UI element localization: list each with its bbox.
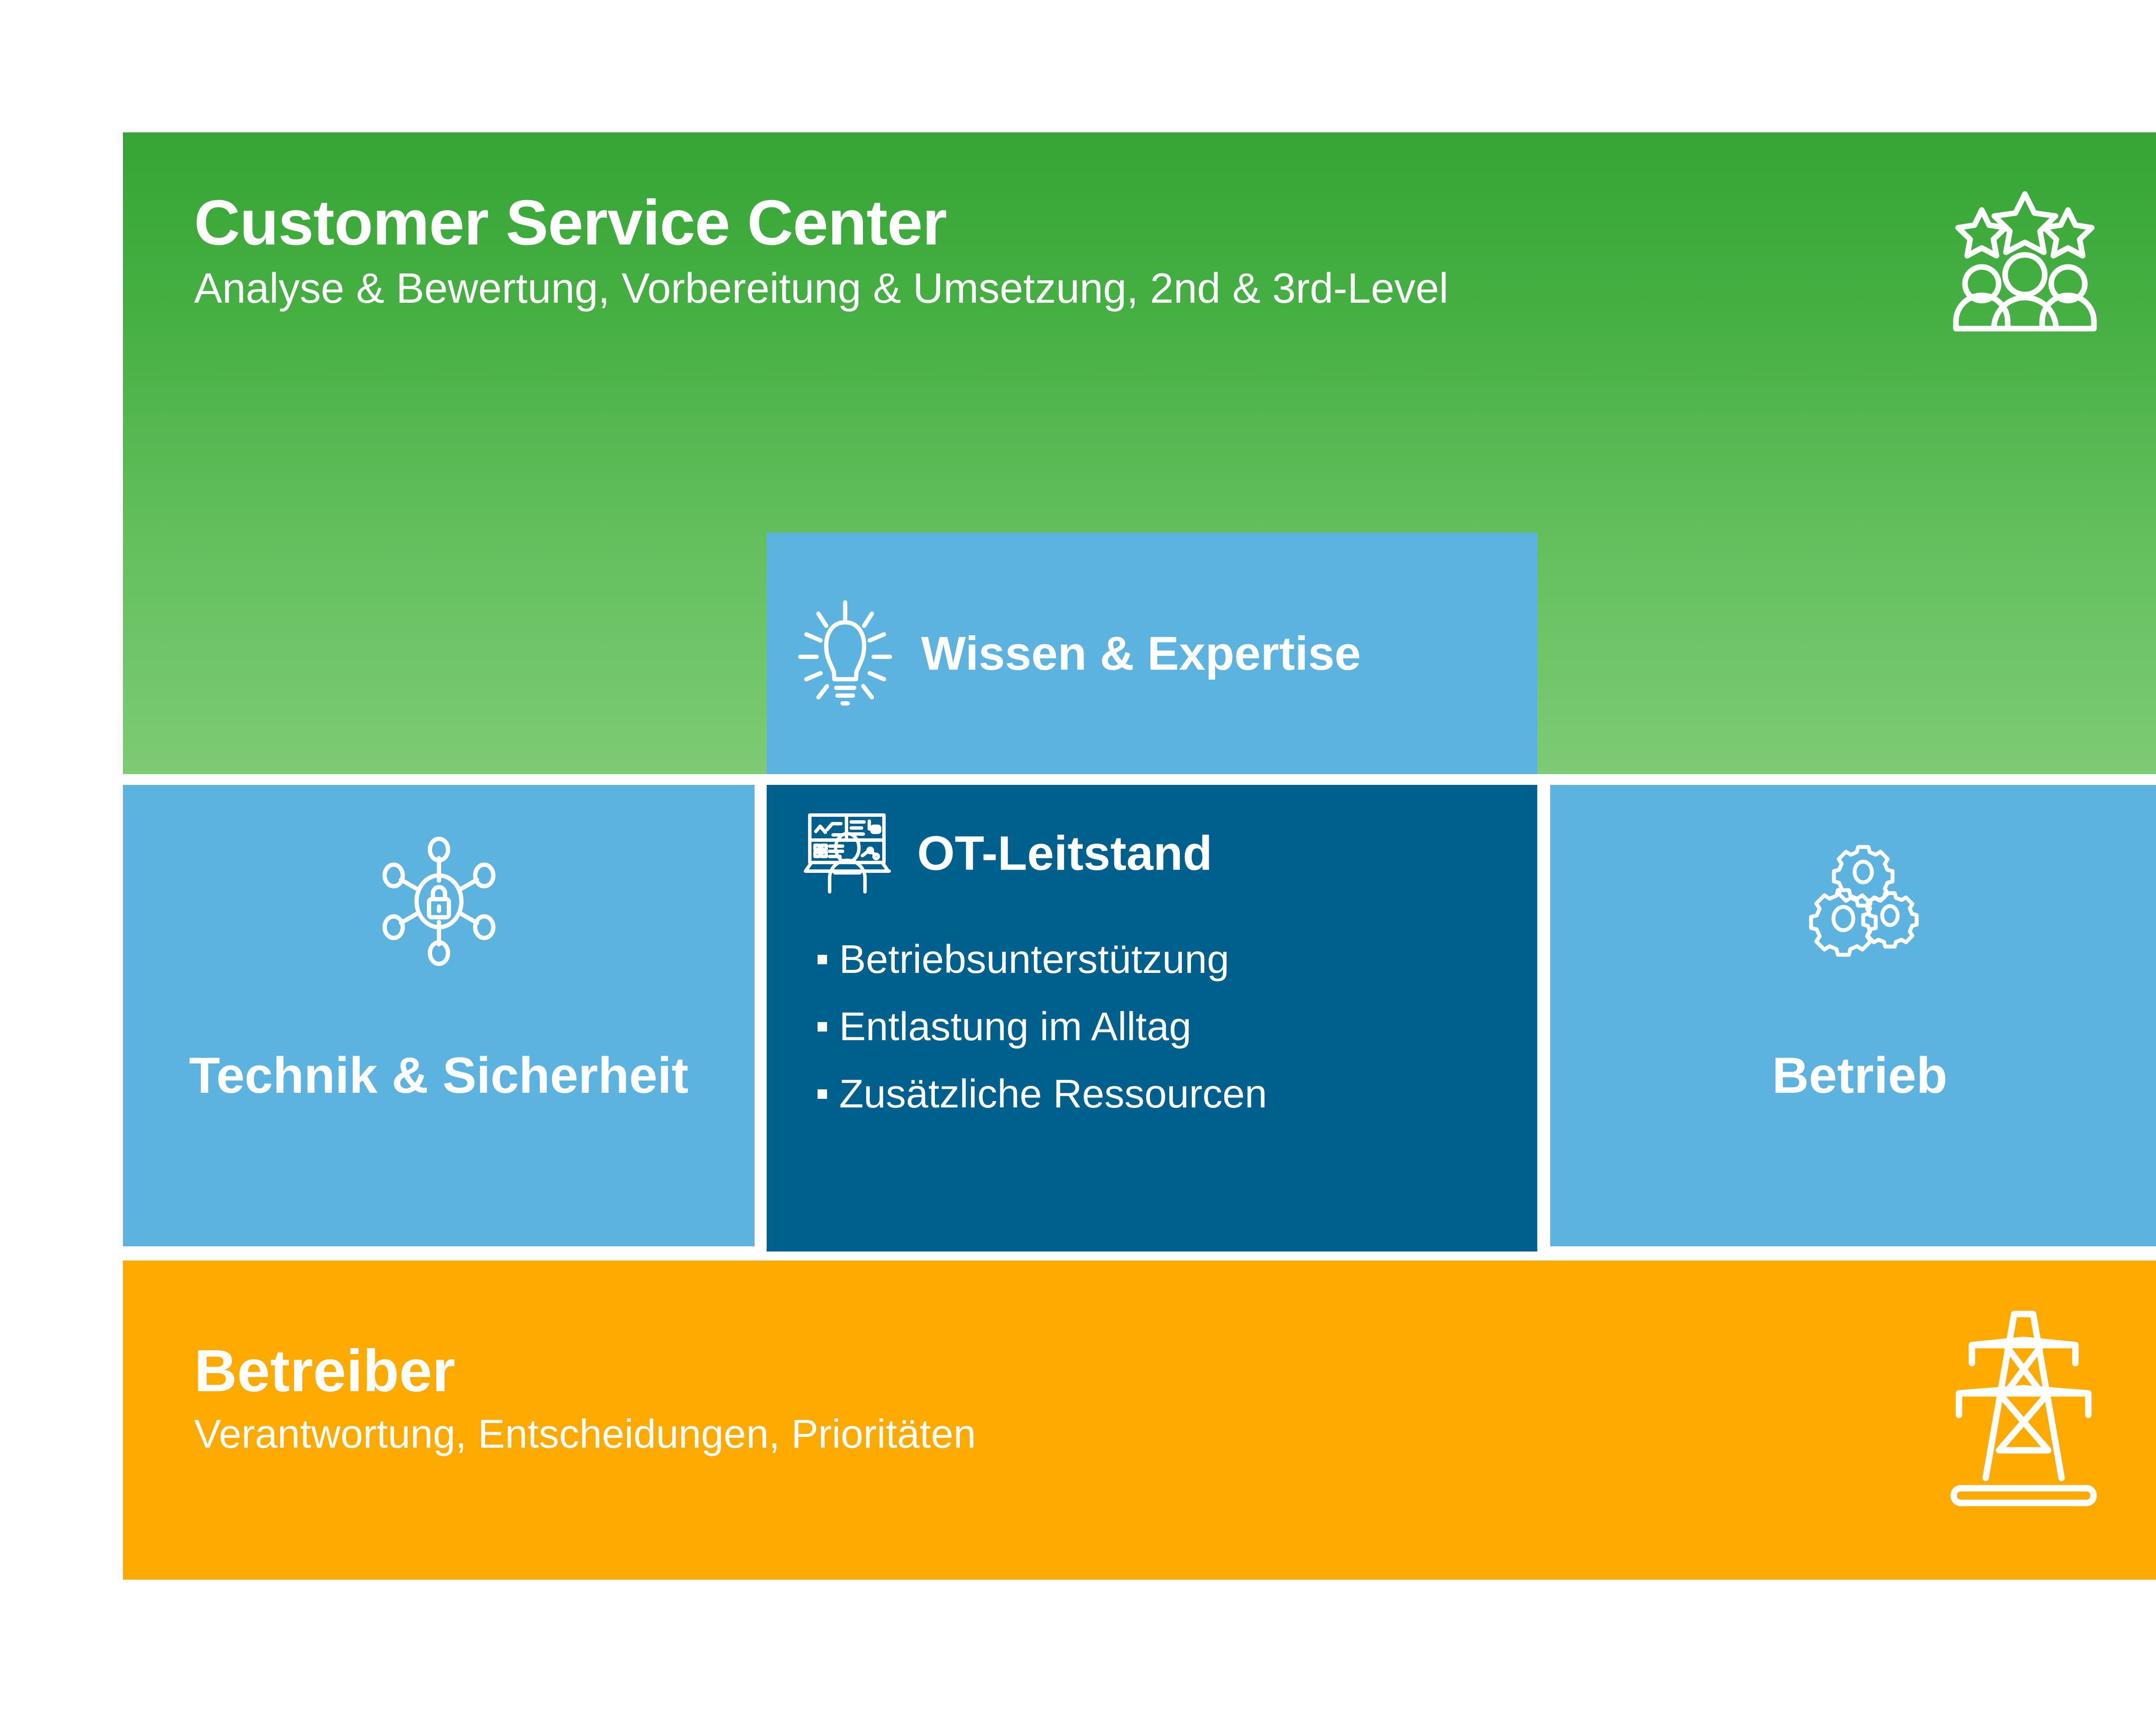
list-item-label: Entlastung im Alltag <box>839 1007 1191 1047</box>
sidebar-item-label: Technik & Sicherheit <box>123 1048 755 1104</box>
page-title: Customer Service Center <box>194 191 1448 256</box>
betrieb-box: Betrieb <box>1550 785 2156 1246</box>
knowledge-card-title: Wissen & Expertise <box>921 627 1361 680</box>
ot-leitstand-card: OT-Leitstand Betriebsunterstützung Entla… <box>767 785 1537 1251</box>
wissen-expertise-card: Wissen & Expertise <box>767 533 1537 774</box>
header-text-group: Customer Service Center Analyse & Bewert… <box>194 191 1448 310</box>
footer-subtitle: Verantwortung, Entscheidungen, Priorität… <box>194 1413 976 1455</box>
sidebar-item-label: Betrieb <box>1550 1048 2156 1104</box>
ot-benefits-list: Betriebsunterstützung Entlastung im Allt… <box>767 939 1537 1114</box>
list-item-label: Zusätzliche Ressourcen <box>839 1074 1267 1114</box>
gears-icon <box>1550 832 2156 970</box>
control-room-icon <box>801 810 894 896</box>
center-column: Wissen & Expertise <box>755 520 1550 1309</box>
bullet-square-icon <box>818 1022 827 1032</box>
list-item: Zusätzliche Ressourcen <box>818 1074 1537 1114</box>
lightbulb-icon <box>793 597 897 709</box>
ot-card-header: OT-Leitstand <box>767 785 1537 896</box>
bullet-square-icon <box>818 1089 827 1099</box>
network-lock-icon <box>123 832 755 970</box>
people-stars-icon <box>1939 186 2111 337</box>
footer-title: Betreiber <box>194 1341 976 1402</box>
diagram-canvas: Customer Service Center Analyse & Bewert… <box>0 0 2156 1725</box>
list-item-label: Betriebsunterstützung <box>839 939 1229 979</box>
footer-text-group: Betreiber Verantwortung, Entscheidungen,… <box>194 1341 976 1455</box>
technik-sicherheit-box: Technik & Sicherheit <box>123 785 755 1246</box>
list-item: Entlastung im Alltag <box>818 1007 1537 1047</box>
list-item: Betriebsunterstützung <box>818 939 1537 979</box>
ot-card-title: OT-Leitstand <box>917 825 1212 881</box>
power-tower-icon <box>1942 1308 2106 1532</box>
header-subtitle: Analyse & Bewertung, Vorbereitung & Umse… <box>194 266 1448 310</box>
bullet-square-icon <box>818 955 827 964</box>
